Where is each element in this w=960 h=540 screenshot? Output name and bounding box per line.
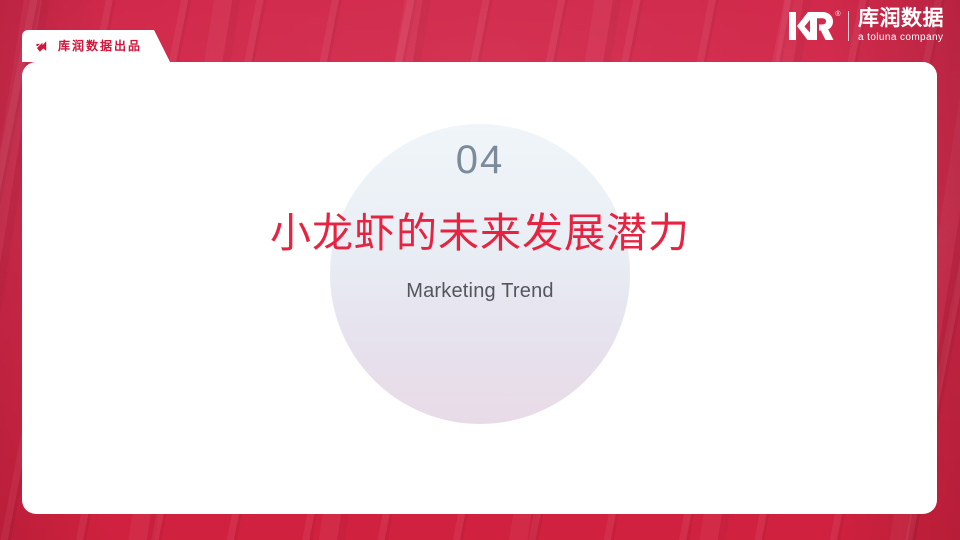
arrow-up-right-icon <box>34 39 49 54</box>
logo-mark-kr: ® <box>788 9 840 43</box>
logo-company-en: a toluna company <box>858 32 944 44</box>
kr-monogram-icon <box>788 9 834 43</box>
producer-ribbon: 库润数据出品 <box>22 30 170 62</box>
brand-logo: ® 库润数据 a toluna company <box>788 8 944 44</box>
logo-divider <box>848 11 850 41</box>
registered-mark: ® <box>835 11 840 18</box>
section-text-stack: 04 小龙虾的未来发展潜力 Marketing Trend <box>0 62 960 301</box>
slide-root: 库润数据出品 ® 库润数据 a toluna company 04 小龙虾的未来… <box>0 0 960 540</box>
logo-wordmark: 库润数据 a toluna company <box>858 8 944 44</box>
section-subtitle: Marketing Trend <box>406 281 554 301</box>
producer-ribbon-label: 库润数据出品 <box>58 40 142 52</box>
section-number: 04 <box>456 140 505 180</box>
logo-company-cn: 库润数据 <box>858 8 944 30</box>
section-title: 小龙虾的未来发展潜力 <box>270 210 690 257</box>
